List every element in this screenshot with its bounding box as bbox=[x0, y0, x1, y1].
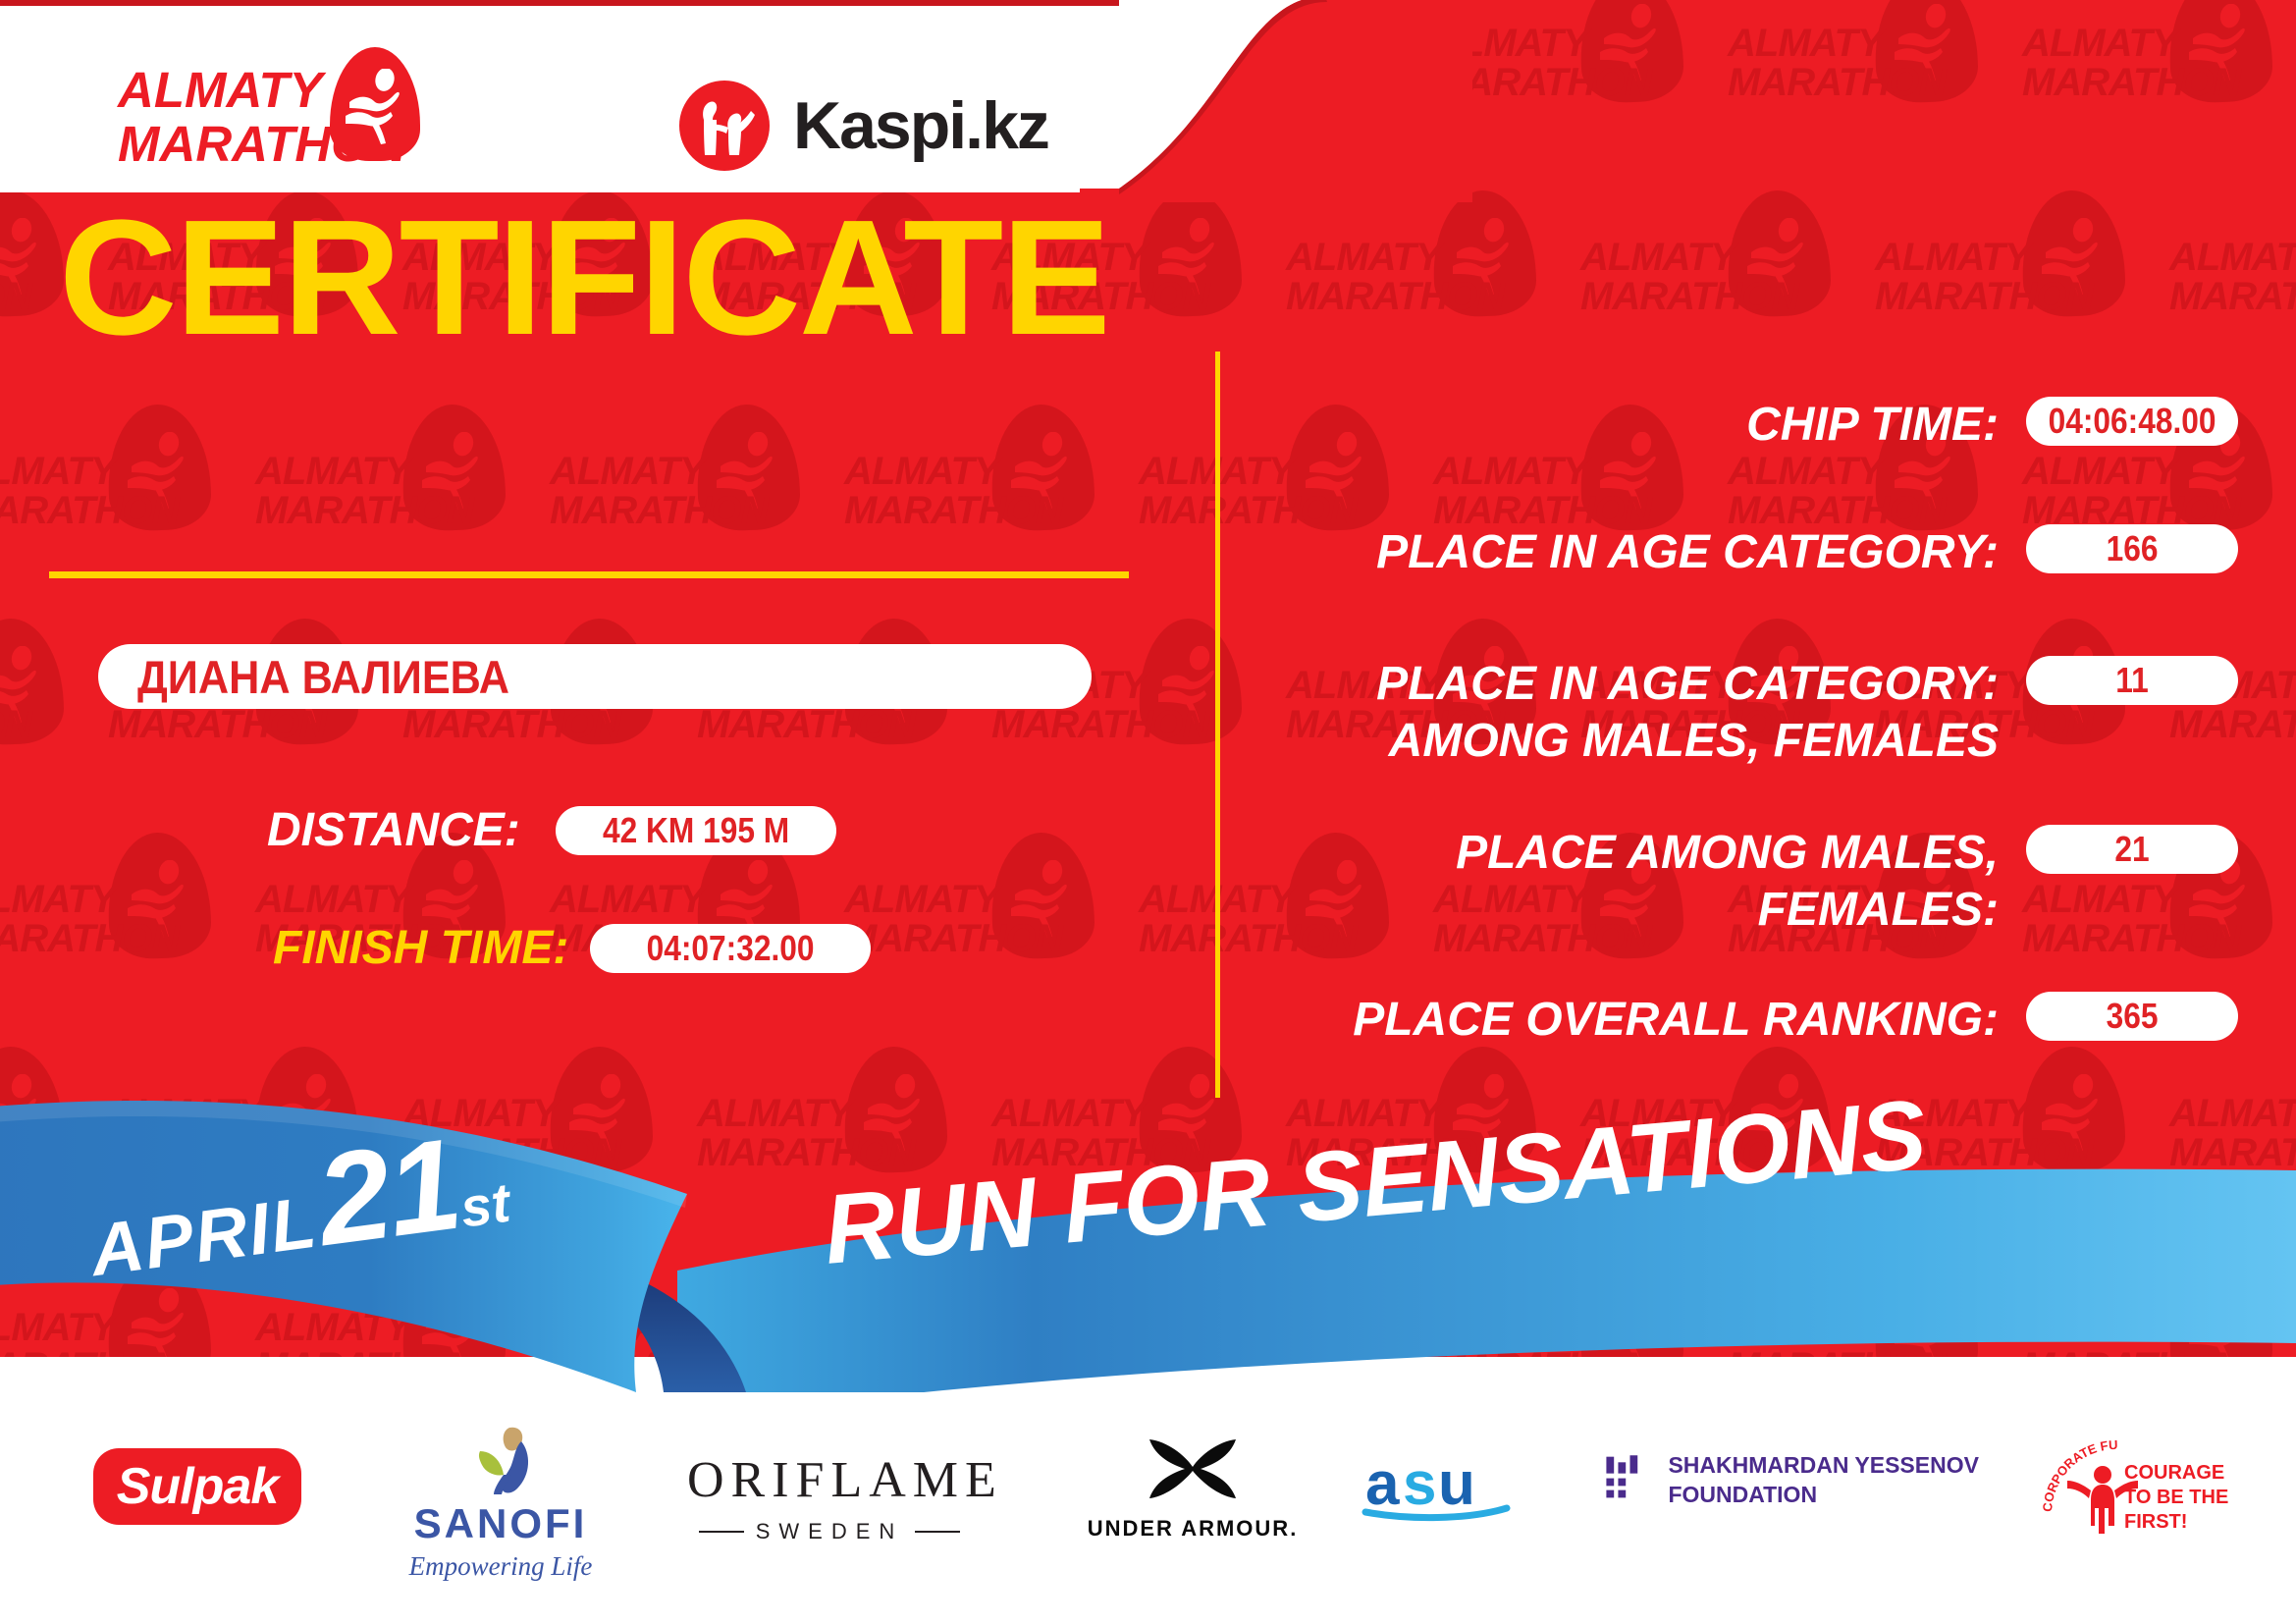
event-date-month: APRIL bbox=[85, 1181, 322, 1292]
teardrop-shape-icon bbox=[1873, 0, 1979, 104]
teardrop-shape-icon bbox=[1137, 189, 1243, 318]
watermark-line2: MARATHON bbox=[550, 489, 768, 533]
runner-icon bbox=[1009, 432, 1078, 511]
chip-time-value: 04:06:48.00 bbox=[2049, 401, 2216, 442]
kaspi-figures-icon bbox=[677, 79, 772, 173]
watermark-line2: MARATHON bbox=[1286, 275, 1504, 319]
sponsor-yessenov-foundation: SHAKHMARDAN YESSENOV FOUNDATION bbox=[1605, 1445, 1998, 1514]
watermark-line2: MARATHON bbox=[2169, 275, 2296, 319]
place-age-category-value: 166 bbox=[2107, 528, 2159, 569]
teardrop-shape-icon bbox=[106, 831, 212, 960]
chip-time-value-pill: 04:06:48.00 bbox=[2026, 397, 2238, 446]
watermark-line1: ALMATY bbox=[1580, 236, 1735, 280]
svg-text:s: s bbox=[1403, 1450, 1436, 1518]
runner-icon bbox=[1598, 4, 1667, 82]
runner-icon bbox=[2187, 4, 2256, 82]
teardrop-shape-icon bbox=[2167, 0, 2273, 104]
sponsor-oriflame-label: ORIFLAME bbox=[687, 1451, 972, 1509]
asu-wordmark-icon: a s u bbox=[1360, 1443, 1546, 1522]
runner-icon bbox=[1745, 218, 1814, 297]
sponsor-courage-fund: CORPORATE FUND COURAGE TO BE THE FIRST! bbox=[2042, 1424, 2238, 1571]
watermark-line1: ALMATY bbox=[844, 450, 999, 494]
sponsor-oriflame-sub-wrap: SWEDEN bbox=[687, 1519, 972, 1544]
watermark-line1: ALMATY bbox=[844, 878, 999, 922]
sponsor-under-armour-label: UNDER ARMOUR. bbox=[1085, 1516, 1301, 1542]
place-overall-ranking-value-pill: 365 bbox=[2026, 992, 2238, 1041]
watermark-line2: MARATHON bbox=[0, 489, 179, 533]
watermark-line1: ALMATY bbox=[0, 450, 116, 494]
teardrop-shape-icon bbox=[989, 403, 1095, 532]
header-curve-shape bbox=[1080, 0, 1472, 202]
under-armour-mark-icon bbox=[1134, 1434, 1252, 1510]
place-age-category-gender-row: PLACE IN AGE CATEGORY: AMONG MALES, FEMA… bbox=[1129, 656, 2238, 770]
watermark-tile: ALMATYMARATHON bbox=[550, 399, 844, 613]
sponsor-under-armour: UNDER ARMOUR. bbox=[1085, 1434, 1301, 1542]
runner-icon bbox=[420, 432, 489, 511]
runner-icon bbox=[1009, 860, 1078, 939]
place-age-category-value-pill: 166 bbox=[2026, 524, 2238, 573]
watermark-tile: ALMATYMARATHON bbox=[1286, 185, 1580, 399]
kaspi-logo: Kaspi.kz bbox=[677, 79, 1048, 173]
place-age-category-gender-label: PLACE IN AGE CATEGORY: AMONG MALES, FEMA… bbox=[1376, 656, 1999, 770]
finish-time-value: 04:07:32.00 bbox=[647, 928, 815, 969]
runner-icon bbox=[0, 646, 47, 725]
watermark-line2: MARATHON bbox=[1728, 61, 1946, 105]
watermark-tile: ALMATYMARATHON bbox=[0, 613, 108, 827]
runner-icon bbox=[126, 432, 194, 511]
distance-label: DISTANCE: bbox=[267, 803, 520, 857]
watermark-line2: MARATHON bbox=[255, 489, 473, 533]
place-overall-ranking-label: PLACE OVERALL RANKING: bbox=[1353, 992, 1999, 1049]
sponsor-sanofi-label: SANOFI bbox=[398, 1500, 604, 1547]
runner-icon bbox=[2040, 218, 2109, 297]
watermark-tile: ALMATYMARATHON bbox=[844, 827, 1139, 1041]
watermark-line1: ALMATY bbox=[255, 878, 410, 922]
watermark-line1: ALMATY bbox=[1728, 22, 1883, 66]
athlete-name: ДИАНА ВАЛИЕВА bbox=[137, 650, 509, 704]
watermark-line1: ALMATY bbox=[2022, 450, 2177, 494]
watermark-line2: MARATHON bbox=[1875, 275, 2093, 319]
watermark-line2: MARATHON bbox=[2022, 61, 2240, 105]
watermark-line2: MARATHON bbox=[1580, 275, 1798, 319]
sponsor-yessenov-label: SHAKHMARDAN YESSENOV FOUNDATION bbox=[1668, 1450, 1998, 1509]
runner-icon bbox=[0, 218, 47, 297]
page-title: CERTIFICATE bbox=[59, 196, 1109, 360]
watermark-line1: ALMATY bbox=[2169, 236, 2296, 280]
teardrop-shape-icon bbox=[400, 403, 507, 532]
watermark-tile: ALMATYMARATHON bbox=[1728, 0, 2022, 185]
teardrop-shape-icon bbox=[1726, 189, 1832, 318]
watermark-line1: ALMATY bbox=[1286, 236, 1441, 280]
place-age-category-label: PLACE IN AGE CATEGORY: bbox=[1376, 524, 1999, 581]
watermark-line2: MARATHON bbox=[0, 275, 31, 319]
distance-row: DISTANCE: 42 KM 195 M bbox=[267, 803, 836, 857]
svg-text:a: a bbox=[1365, 1450, 1400, 1518]
place-age-category-row: PLACE IN AGE CATEGORY: 166 bbox=[1129, 524, 2238, 581]
divider-right bbox=[915, 1531, 960, 1533]
sponsor-sanofi: SANOFI Empowering Life bbox=[398, 1422, 604, 1569]
runner-icon bbox=[1893, 4, 1961, 82]
place-age-category-gender-value-pill: 11 bbox=[2026, 656, 2238, 705]
place-among-gender-row: PLACE AMONG MALES, FEMALES: 21 bbox=[1129, 825, 2238, 939]
watermark-line2: MARATHON bbox=[108, 703, 326, 747]
watermark-tile: ALMATYMARATHON bbox=[1875, 185, 2169, 399]
watermark-tile: ALMATYMARATHON bbox=[2169, 185, 2296, 399]
runner-icon bbox=[1451, 218, 1520, 297]
sponsor-sulpak-label: Sulpak bbox=[117, 1457, 279, 1516]
watermark-tile: ALMATYMARATHON bbox=[2022, 0, 2296, 185]
watermark-line2: MARATHON bbox=[0, 917, 179, 961]
teardrop-shape-icon bbox=[1431, 189, 1537, 318]
watermark-tile: ALMATYMARATHON bbox=[0, 827, 255, 1041]
watermark-tile: ALMATYMARATHON bbox=[844, 399, 1139, 613]
teardrop-shape-icon bbox=[989, 831, 1095, 960]
runner-icon bbox=[715, 432, 783, 511]
place-overall-ranking-value: 365 bbox=[2107, 996, 2159, 1037]
watermark-line2: MARATHON bbox=[844, 917, 1062, 961]
runner-icon bbox=[126, 860, 194, 939]
place-among-gender-value: 21 bbox=[2114, 829, 2149, 870]
event-date-day: 21 bbox=[309, 1111, 467, 1272]
kaspi-wordmark: Kaspi.kz bbox=[793, 87, 1048, 164]
sponsor-oriflame: ORIFLAME SWEDEN bbox=[687, 1451, 972, 1544]
finish-time-value-pill: 04:07:32.00 bbox=[590, 924, 871, 973]
watermark-line1: ALMATY bbox=[0, 878, 116, 922]
watermark-line2: MARATHON bbox=[0, 703, 31, 747]
watermark-tile: ALMATYMARATHON bbox=[1580, 185, 1875, 399]
watermark-line1: ALMATY bbox=[1875, 236, 2030, 280]
teardrop-shape-icon bbox=[1578, 0, 1684, 104]
watermark-tile: ALMATYMARATHON bbox=[1433, 0, 1728, 185]
sponsor-sanofi-tagline: Empowering Life bbox=[398, 1551, 604, 1582]
teardrop-shape-icon bbox=[0, 617, 65, 746]
place-age-category-gender-value: 11 bbox=[2115, 660, 2148, 701]
watermark-line1: ALMATY bbox=[1433, 450, 1588, 494]
watermark-line1: ALMATY bbox=[550, 450, 705, 494]
watermark-line1: ALMATY bbox=[1728, 450, 1883, 494]
teardrop-shape-icon bbox=[2020, 189, 2126, 318]
yessenov-bars-icon bbox=[1605, 1445, 1646, 1514]
chip-time-label: CHIP TIME: bbox=[1746, 397, 1999, 454]
watermark-line1: ALMATY bbox=[255, 450, 410, 494]
place-overall-ranking-row: PLACE OVERALL RANKING: 365 bbox=[1129, 992, 2238, 1049]
almaty-marathon-logo: ALMATY MARATHON bbox=[118, 47, 432, 175]
teardrop-shape-icon bbox=[106, 403, 212, 532]
distance-value: 42 KM 195 M bbox=[603, 810, 789, 851]
certificate-canvas: ALMATYMARATHONALMATYMARATHONALMATYMARATH… bbox=[0, 0, 2296, 1624]
sponsor-sulpak: Sulpak bbox=[93, 1448, 301, 1525]
watermark-line2: MARATHON bbox=[697, 703, 915, 747]
chip-time-row: CHIP TIME: 04:06:48.00 bbox=[1129, 397, 2238, 454]
watermark-line1: ALMATY bbox=[2022, 22, 2177, 66]
place-among-gender-value-pill: 21 bbox=[2026, 825, 2238, 874]
teardrop-shape-icon bbox=[0, 189, 65, 318]
sponsor-oriflame-sub: SWEDEN bbox=[756, 1519, 904, 1544]
svg-text:u: u bbox=[1438, 1450, 1475, 1518]
teardrop-shape-icon bbox=[695, 403, 801, 532]
watermark-line2: MARATHON bbox=[844, 489, 1062, 533]
distance-value-pill: 42 KM 195 M bbox=[556, 806, 836, 855]
event-date-ordinal: st bbox=[456, 1171, 513, 1239]
watermark-line2: MARATHON bbox=[402, 703, 620, 747]
watermark-tile: ALMATYMARATHON bbox=[255, 399, 550, 613]
watermark-line1: ALMATY bbox=[550, 878, 705, 922]
runner-icon bbox=[1156, 218, 1225, 297]
finish-time-row: FINISH TIME: 04:07:32.00 bbox=[273, 921, 871, 975]
runner-icon bbox=[344, 69, 408, 145]
place-among-gender-label: PLACE AMONG MALES, FEMALES: bbox=[1456, 825, 1999, 939]
athlete-name-field: ДИАНА ВАЛИЕВА bbox=[98, 644, 1092, 709]
header-top-rule bbox=[0, 0, 1119, 6]
title-underline bbox=[49, 571, 1129, 578]
divider-left bbox=[699, 1531, 744, 1533]
sponsor-courage-label: COURAGE TO BE THE FIRST! bbox=[2124, 1461, 2238, 1535]
sanofi-mark-icon bbox=[447, 1422, 555, 1498]
sponsor-asu: a s u bbox=[1360, 1443, 1556, 1527]
finish-time-label: FINISH TIME: bbox=[273, 921, 568, 975]
watermark-tile: ALMATYMARATHON bbox=[0, 399, 255, 613]
